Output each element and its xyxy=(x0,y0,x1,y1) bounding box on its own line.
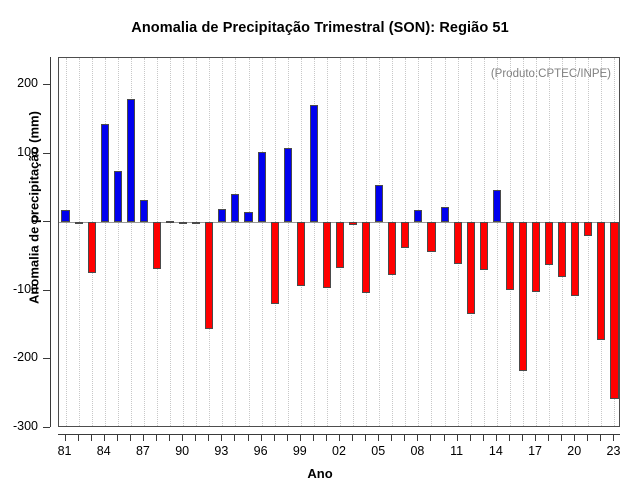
bar-2008 xyxy=(414,210,422,222)
gridline xyxy=(183,58,185,426)
bar-1998 xyxy=(284,148,292,222)
bar-2014 xyxy=(493,190,501,222)
x-tick xyxy=(430,434,431,441)
x-tick-label: 02 xyxy=(324,444,354,458)
gridline xyxy=(144,58,146,426)
bar-2012 xyxy=(467,222,475,314)
x-tick xyxy=(208,434,209,441)
x-tick-label: 99 xyxy=(285,444,315,458)
x-tick xyxy=(613,434,614,441)
x-tick xyxy=(365,434,366,441)
x-tick xyxy=(221,434,222,441)
gridline xyxy=(196,58,198,426)
x-tick xyxy=(378,434,379,441)
bar-2010 xyxy=(441,207,449,222)
bar-1999 xyxy=(297,222,305,286)
x-tick xyxy=(535,434,536,441)
gridline xyxy=(118,58,120,426)
x-tick xyxy=(483,434,484,441)
x-tick xyxy=(470,434,471,441)
bar-1993 xyxy=(218,209,226,222)
y-tick xyxy=(43,84,50,85)
producer-annotation: (Produto:CPTEC/INPE) xyxy=(491,68,611,80)
x-tick xyxy=(248,434,249,441)
bar-2019 xyxy=(558,222,566,276)
x-tick xyxy=(169,434,170,441)
bar-2023 xyxy=(610,222,618,399)
bar-1991 xyxy=(192,222,200,224)
gridline xyxy=(235,58,237,426)
x-tick xyxy=(444,434,445,441)
bar-2007 xyxy=(401,222,409,247)
gridline xyxy=(249,58,251,426)
bar-1982 xyxy=(75,222,83,224)
x-tick-label: 81 xyxy=(50,444,80,458)
gridline xyxy=(353,58,355,426)
bar-2006 xyxy=(388,222,396,274)
bar-1996 xyxy=(258,152,266,223)
x-tick xyxy=(574,434,575,441)
bar-1990 xyxy=(179,222,187,224)
x-tick xyxy=(117,434,118,441)
bar-2017 xyxy=(532,222,540,291)
x-tick xyxy=(234,434,235,441)
bar-2022 xyxy=(597,222,605,339)
bar-2015 xyxy=(506,222,514,290)
bar-2009 xyxy=(427,222,435,251)
gridline xyxy=(418,58,420,426)
x-tick-label: 90 xyxy=(167,444,197,458)
chart-figure: Anomalia de Precipitação Trimestral (SON… xyxy=(0,0,640,500)
y-tick-label: -300 xyxy=(13,419,38,433)
x-tick xyxy=(509,434,510,441)
y-tick xyxy=(43,153,50,154)
bar-2003 xyxy=(349,222,357,225)
x-tick xyxy=(78,434,79,441)
gridline xyxy=(445,58,447,426)
x-tick xyxy=(156,434,157,441)
bar-2018 xyxy=(545,222,553,264)
x-tick xyxy=(548,434,549,441)
x-tick xyxy=(313,434,314,441)
bar-1985 xyxy=(114,171,122,222)
x-tick xyxy=(182,434,183,441)
x-tick xyxy=(339,434,340,441)
bar-1983 xyxy=(88,222,96,273)
bar-1997 xyxy=(271,222,279,304)
y-tick xyxy=(43,358,50,359)
x-tick xyxy=(130,434,131,441)
x-tick-label: 05 xyxy=(363,444,393,458)
bar-2016 xyxy=(519,222,527,371)
bar-2002 xyxy=(336,222,344,267)
x-tick xyxy=(496,434,497,441)
gridline xyxy=(66,58,68,426)
bar-2000 xyxy=(310,105,318,222)
x-tick xyxy=(391,434,392,441)
bar-2005 xyxy=(375,185,383,222)
bar-1995 xyxy=(244,212,252,222)
x-tick xyxy=(522,434,523,441)
bar-1986 xyxy=(127,99,135,222)
x-tick-label: 17 xyxy=(520,444,550,458)
bar-1988 xyxy=(153,222,161,269)
x-tick xyxy=(587,434,588,441)
y-axis-title: Anomalia de precipitação (mm) xyxy=(27,78,42,338)
bar-2021 xyxy=(584,222,592,236)
x-tick xyxy=(274,434,275,441)
bar-2004 xyxy=(362,222,370,293)
bar-1981 xyxy=(61,210,69,222)
x-tick xyxy=(261,434,262,441)
x-tick xyxy=(352,434,353,441)
y-tick xyxy=(43,290,50,291)
gridline xyxy=(79,58,81,426)
x-tick-label: 93 xyxy=(206,444,236,458)
gridline xyxy=(379,58,381,426)
gridline xyxy=(588,58,590,426)
bar-2001 xyxy=(323,222,331,288)
bar-2011 xyxy=(454,222,462,264)
bar-1992 xyxy=(205,222,213,328)
x-tick xyxy=(561,434,562,441)
y-tick-label: -200 xyxy=(13,350,38,364)
x-tick-label: 23 xyxy=(598,444,628,458)
x-tick xyxy=(65,434,66,441)
x-tick xyxy=(417,434,418,441)
x-tick-label: 96 xyxy=(246,444,276,458)
x-tick-label: 08 xyxy=(402,444,432,458)
gridline xyxy=(170,58,172,426)
x-tick-label: 20 xyxy=(559,444,589,458)
x-axis-title: Ano xyxy=(0,466,640,481)
x-tick-label: 11 xyxy=(442,444,472,458)
x-tick xyxy=(91,434,92,441)
x-tick xyxy=(104,434,105,441)
x-tick xyxy=(287,434,288,441)
y-tick xyxy=(43,427,50,428)
x-tick xyxy=(600,434,601,441)
gridline xyxy=(105,58,107,426)
x-tick xyxy=(300,434,301,441)
bar-1984 xyxy=(101,124,109,222)
bar-2020 xyxy=(571,222,579,295)
y-tick xyxy=(43,221,50,222)
x-tick xyxy=(326,434,327,441)
x-tick-label: 14 xyxy=(481,444,511,458)
x-tick-label: 87 xyxy=(128,444,158,458)
bar-2013 xyxy=(480,222,488,270)
x-tick xyxy=(143,434,144,441)
bar-1989 xyxy=(166,221,174,223)
y-axis-line xyxy=(50,57,51,427)
x-tick xyxy=(404,434,405,441)
x-tick xyxy=(195,434,196,441)
gridline xyxy=(497,58,499,426)
x-tick-label: 84 xyxy=(89,444,119,458)
bar-1987 xyxy=(140,200,148,223)
page-title: Anomalia de Precipitação Trimestral (SON… xyxy=(0,20,640,36)
gridline xyxy=(262,58,264,426)
bar-1994 xyxy=(231,194,239,223)
gridline xyxy=(288,58,290,426)
plot-area: (Produto:CPTEC/INPE) xyxy=(58,57,620,427)
gridline xyxy=(222,58,224,426)
x-tick xyxy=(457,434,458,441)
